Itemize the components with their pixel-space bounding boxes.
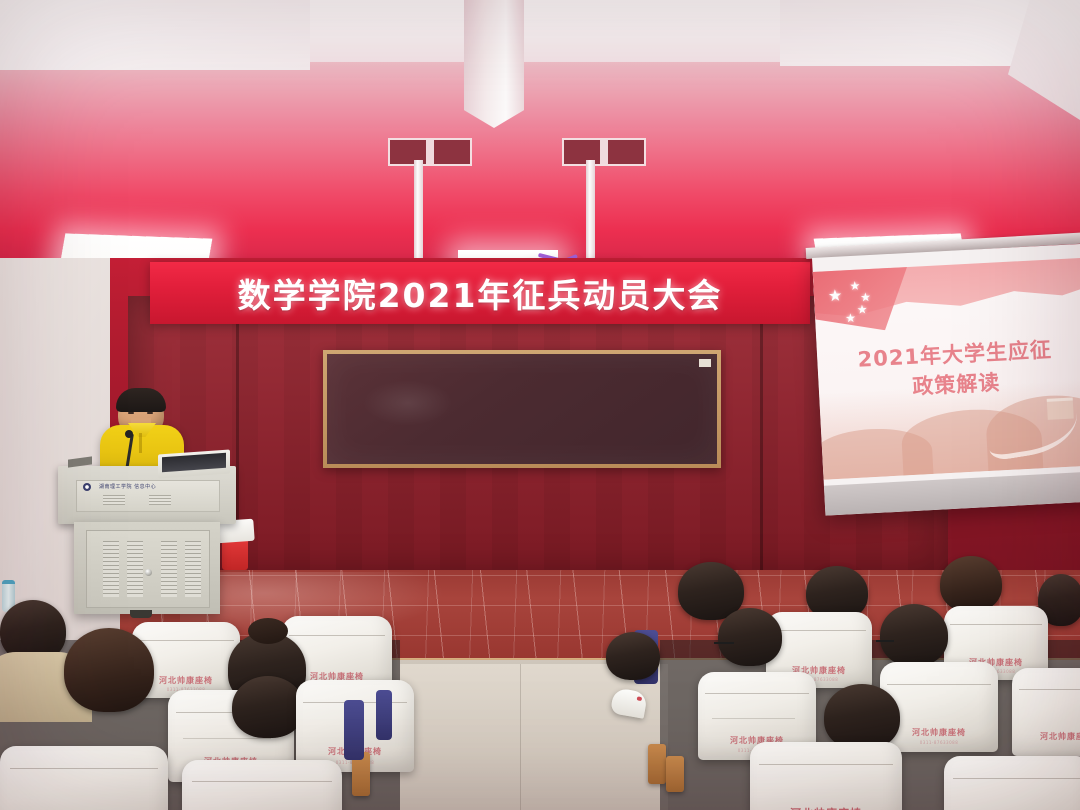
cover-fold [887, 684, 991, 685]
seat-cover-logo: 河北帅康座椅 [1012, 731, 1080, 742]
floor-tile-line [520, 664, 521, 810]
seat-cover [1012, 668, 1080, 756]
student-head [232, 676, 304, 738]
seat-with-cover[interactable]: 河北帅康座椅 [182, 760, 342, 810]
center-aisle [400, 664, 668, 810]
student-head [718, 608, 782, 666]
blackboard-surface [327, 354, 717, 464]
seat-frame-side [344, 700, 364, 760]
student-head [940, 556, 1002, 612]
great-wall-tower [1047, 398, 1074, 420]
flag-star-icon: ★ [845, 312, 856, 325]
seat-cover-logo: 河北帅康座椅 [750, 805, 902, 810]
speaker-hair [116, 388, 166, 412]
flag-star-icon: ★ [856, 303, 867, 316]
cabinet-vent-slots [185, 541, 201, 597]
speaker-eye [128, 412, 134, 414]
student-head [880, 604, 948, 666]
chalk-smudge [363, 380, 453, 426]
ceiling-air-vent [388, 138, 472, 166]
great-wall-photo [819, 379, 1080, 479]
seat-cover [750, 742, 902, 810]
lecture-hall-photo: 数学学院2021年征兵动员大会 ★ ★ ★ ★ ★ 2021年大学生应征 政策解… [0, 0, 1080, 810]
cover-fold [183, 738, 271, 739]
cabinet-vent-slots [103, 541, 119, 597]
microphone-head [125, 430, 133, 438]
presentation-slide: ★ ★ ★ ★ ★ 2021年大学生应征 政策解读 [813, 258, 1080, 480]
university-logo-icon [83, 483, 91, 491]
podium-body [74, 522, 220, 614]
cover-fold [10, 768, 158, 769]
cover-fold [1019, 689, 1080, 690]
seat-with-cover[interactable]: 河北帅康座椅 0311-87633088 [750, 742, 902, 810]
cabinet-lock-icon[interactable] [145, 569, 152, 576]
wall-panel-seam [760, 296, 763, 578]
event-banner: 数学学院2021年征兵动员大会 [150, 262, 810, 324]
eyeglasses [876, 640, 894, 642]
seat-armrest [648, 744, 666, 784]
cabinet-vent-slots [161, 541, 177, 597]
projector-mount-rod [586, 160, 595, 262]
podium-cabinet-door[interactable] [86, 530, 210, 608]
monitor-screen [162, 453, 226, 472]
cover-fold [138, 640, 233, 641]
seat-cover [182, 760, 342, 810]
ceiling-white-left [0, 0, 310, 70]
podium-nameplate: 湖南理工学院 信息中心 [76, 480, 220, 512]
eyeglasses [714, 642, 734, 644]
cover-fold [772, 630, 865, 631]
speaker-eye [147, 412, 153, 414]
cover-fold [289, 635, 386, 636]
student-head [64, 628, 154, 712]
flag-star-icon: ★ [828, 288, 843, 305]
cover-fold [192, 781, 333, 782]
cap-emblem-icon [637, 696, 643, 701]
cover-fold [705, 693, 809, 694]
projection-screen: ★ ★ ★ ★ ★ 2021年大学生应征 政策解读 [812, 244, 1080, 516]
cover-fold [759, 764, 893, 765]
cover-fold [950, 624, 1042, 625]
seat-with-cover[interactable]: 河北帅康座椅 [1012, 668, 1080, 756]
ceiling-soffit-beam [464, 0, 524, 128]
seat-cover [944, 756, 1080, 810]
seat-with-cover[interactable]: 河北帅康座椅 0311-87633088 [0, 746, 168, 810]
podium-monitor [158, 449, 230, 478]
student-head [606, 632, 660, 680]
cabinet-vent-slots [127, 541, 143, 597]
student-head [824, 684, 900, 750]
podium-vent-slots [103, 495, 125, 505]
seat-with-cover[interactable]: 河北帅康座椅 [944, 756, 1080, 810]
podium-nameplate-text: 湖南理工学院 信息中心 [99, 483, 156, 490]
ceiling-air-vent [562, 138, 646, 166]
cover-fold [712, 718, 795, 719]
shirt-placket [139, 433, 142, 453]
podium-vent-slots [149, 495, 171, 505]
ceiling [0, 0, 1080, 262]
banner-title: 数学学院2021年征兵动员大会 [150, 269, 810, 317]
podium-base-foot [130, 610, 152, 618]
blackboard [323, 350, 721, 468]
blackboard-corner-tag [699, 359, 711, 367]
cover-fold [953, 778, 1080, 779]
seat-armrest [666, 756, 684, 792]
projector-mount-rod [414, 160, 423, 262]
hair-bun [248, 618, 288, 644]
seat-frame-side [376, 690, 392, 740]
seat-cover [0, 746, 168, 810]
